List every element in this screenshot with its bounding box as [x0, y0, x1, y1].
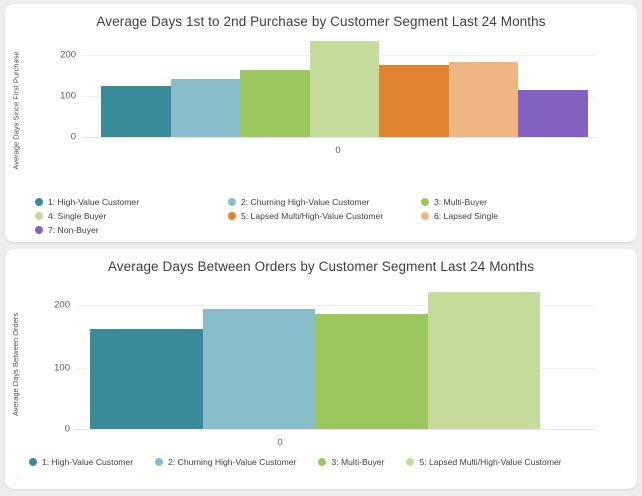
legend-item-4-chart2[interactable]: 5: Lapsed Multi/High-Value Customer — [406, 457, 561, 467]
dashboard-page: Average Days 1st to 2nd Purchase by Cust… — [0, 0, 642, 496]
y-axis-title-text-1: Average Days Since First Purchase — [12, 51, 21, 169]
legend-swatch-icon-3-chart2 — [318, 458, 326, 466]
bar-segment-7-chart1[interactable] — [518, 90, 588, 137]
y-tick-label-0-chart2: 0 — [65, 424, 75, 435]
legend-item-2-chart1[interactable]: 2: Churning High-Value Customer — [228, 197, 421, 207]
legend-label-5-chart1: 5: Lapsed Multi/High-Value Customer — [241, 211, 383, 221]
legend-swatch-icon-6-chart1 — [421, 212, 429, 220]
x-axis-label-chart1: 0 — [81, 145, 595, 156]
chart-title-1: Average Days 1st to 2nd Purchase by Cust… — [5, 4, 637, 29]
legend-swatch-icon-7-chart1 — [35, 226, 43, 234]
x-axis-label-chart2: 0 — [75, 437, 485, 448]
y-axis-title-text-2: Average Days Between Orders — [12, 312, 21, 415]
legend-label-3-chart1: 3: Multi-Buyer — [434, 197, 487, 207]
legend-label-1-chart1: 1: High-Value Customer — [48, 197, 139, 207]
bar-segment-2-chart1[interactable] — [171, 79, 241, 137]
bar-segment-1-chart2[interactable] — [90, 329, 203, 429]
legend-item-3-chart2[interactable]: 3: Multi-Buyer — [318, 457, 384, 467]
bar-segment-5-chart1[interactable] — [379, 65, 449, 137]
legend-label-4-chart1: 4: Single Buyer — [48, 211, 106, 221]
legend-item-1-chart1[interactable]: 1: High-Value Customer — [35, 197, 228, 207]
y-axis-title-1: Average Days Since First Purchase — [5, 35, 27, 185]
legend-item-3-chart1[interactable]: 3: Multi-Buyer — [421, 197, 614, 207]
bar-group-chart1 — [101, 35, 588, 137]
legend-item-1-chart2[interactable]: 1: High-Value Customer — [29, 457, 133, 467]
bar-segment-3-chart1[interactable] — [240, 70, 310, 137]
legend-swatch-icon-5-chart1 — [228, 212, 236, 220]
y-tick-label-100-chart2: 100 — [54, 362, 75, 373]
chart-title-2: Average Days Between Orders by Customer … — [5, 249, 637, 274]
axis-baseline-chart1 — [81, 137, 595, 138]
legend-label-4-chart2: 5: Lapsed Multi/High-Value Customer — [419, 457, 561, 467]
legend-label-6-chart1: 6: Lapsed Single — [434, 211, 498, 221]
legend-item-7-chart1[interactable]: 7: Non-Buyer — [35, 225, 228, 235]
bar-segment-2-chart2[interactable] — [203, 309, 316, 429]
chart-legend-1: 1: High-Value Customer 2: Churning High-… — [5, 197, 637, 235]
y-tick-label-200-chart1: 200 — [60, 49, 81, 60]
legend-swatch-icon-3-chart1 — [421, 198, 429, 206]
axes-1: 200 100 0 0 — [81, 35, 595, 185]
legend-item-2-chart2[interactable]: 2: Churning High-Value Customer — [155, 457, 296, 467]
bar-segment-3-chart2[interactable] — [315, 314, 428, 429]
bar-group-chart2 — [90, 284, 540, 429]
chart-plot-area-1: Average Days Since First Purchase 200 10… — [5, 35, 637, 185]
legend-item-4-chart1[interactable]: 4: Single Buyer — [35, 211, 228, 221]
legend-label-1-chart2: 1: High-Value Customer — [42, 457, 133, 467]
bar-segment-6-chart1[interactable] — [449, 62, 519, 137]
chart-plot-area-2: Average Days Between Orders 200 100 0 0 — [5, 284, 637, 444]
chart-card-days-first-to-second-purchase: Average Days 1st to 2nd Purchase by Cust… — [5, 4, 637, 242]
legend-label-2-chart2: 2: Churning High-Value Customer — [168, 457, 296, 467]
y-tick-label-0-chart1: 0 — [71, 132, 81, 143]
legend-item-5-chart1[interactable]: 5: Lapsed Multi/High-Value Customer — [228, 211, 421, 221]
legend-swatch-icon-4-chart1 — [35, 212, 43, 220]
bar-segment-5-chart2[interactable] — [428, 292, 541, 429]
axes-2: 200 100 0 0 — [75, 284, 595, 444]
bar-segment-4-chart1[interactable] — [310, 41, 380, 137]
legend-swatch-icon-4-chart2 — [406, 458, 414, 466]
y-tick-label-200-chart2: 200 — [54, 299, 75, 310]
legend-item-6-chart1[interactable]: 6: Lapsed Single — [421, 211, 614, 221]
legend-swatch-icon-1-chart1 — [35, 198, 43, 206]
legend-swatch-icon-1-chart2 — [29, 458, 37, 466]
legend-label-2-chart1: 2: Churning High-Value Customer — [241, 197, 369, 207]
legend-swatch-icon-2-chart2 — [155, 458, 163, 466]
legend-label-7-chart1: 7: Non-Buyer — [48, 225, 99, 235]
y-tick-label-100-chart1: 100 — [60, 90, 81, 101]
bar-segment-1-chart1[interactable] — [101, 86, 171, 137]
legend-label-3-chart2: 3: Multi-Buyer — [331, 457, 384, 467]
chart-legend-2: 1: High-Value Customer 2: Churning High-… — [5, 457, 637, 467]
legend-swatch-icon-2-chart1 — [228, 198, 236, 206]
axis-baseline-chart2 — [75, 429, 595, 430]
chart-card-days-between-orders: Average Days Between Orders by Customer … — [5, 249, 637, 489]
y-axis-title-2: Average Days Between Orders — [5, 284, 27, 444]
